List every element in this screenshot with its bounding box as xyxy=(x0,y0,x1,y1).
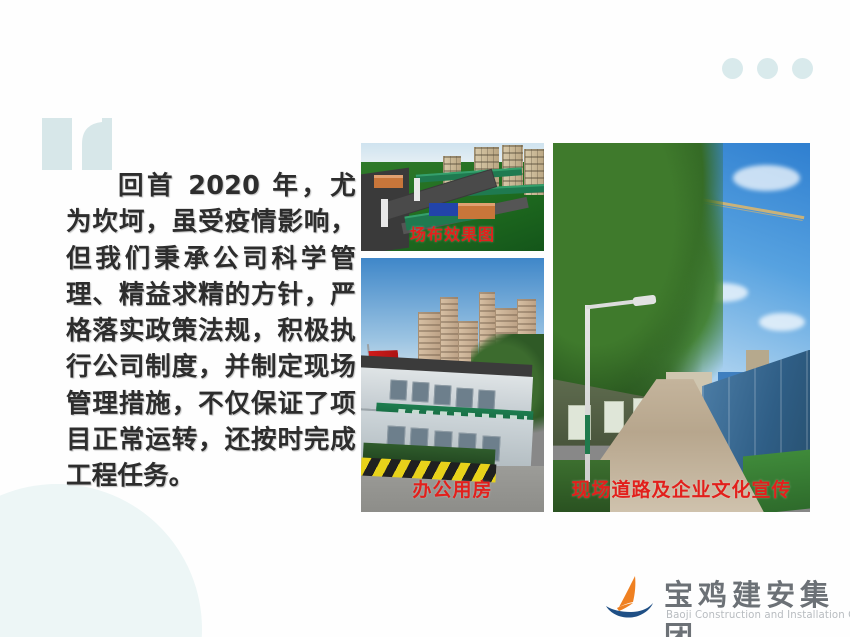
photo-office: 办公用房 xyxy=(361,258,544,512)
dot-decoration-group xyxy=(722,58,813,79)
dot-decoration-3 xyxy=(792,58,813,79)
photo-office-caption: 办公用房 xyxy=(361,475,544,502)
logo-company-name-en: Baoji Construction and Installation Grou… xyxy=(666,610,850,621)
quote-paragraph: 回首 2020 年，尤为坎坷，虽受疫情影响，但我们秉承公司科学管理、精益求精的方… xyxy=(66,168,356,495)
photo-site-render-caption: 场布效果图 xyxy=(361,221,544,245)
dot-decoration-1 xyxy=(722,58,743,79)
company-logo: 宝鸡建安集团 Baoji Construction and Installati… xyxy=(604,570,844,632)
dot-decoration-2 xyxy=(757,58,778,79)
photo-site-render: 场布效果图 xyxy=(361,143,544,251)
slide-canvas: 回首 2020 年，尤为坎坷，虽受疫情影响，但我们秉承公司科学管理、精益求精的方… xyxy=(0,0,850,637)
logo-company-name-cn: 宝鸡建安集团 xyxy=(664,572,844,637)
logo-sail-icon xyxy=(604,574,656,622)
photo-road-caption: 现场道路及企业文化宣传 xyxy=(553,475,810,502)
corner-circle-decoration xyxy=(0,484,202,637)
photo-office-scene xyxy=(361,258,544,512)
photo-road-scene xyxy=(553,143,810,512)
photo-road: 现场道路及企业文化宣传 xyxy=(553,143,810,512)
